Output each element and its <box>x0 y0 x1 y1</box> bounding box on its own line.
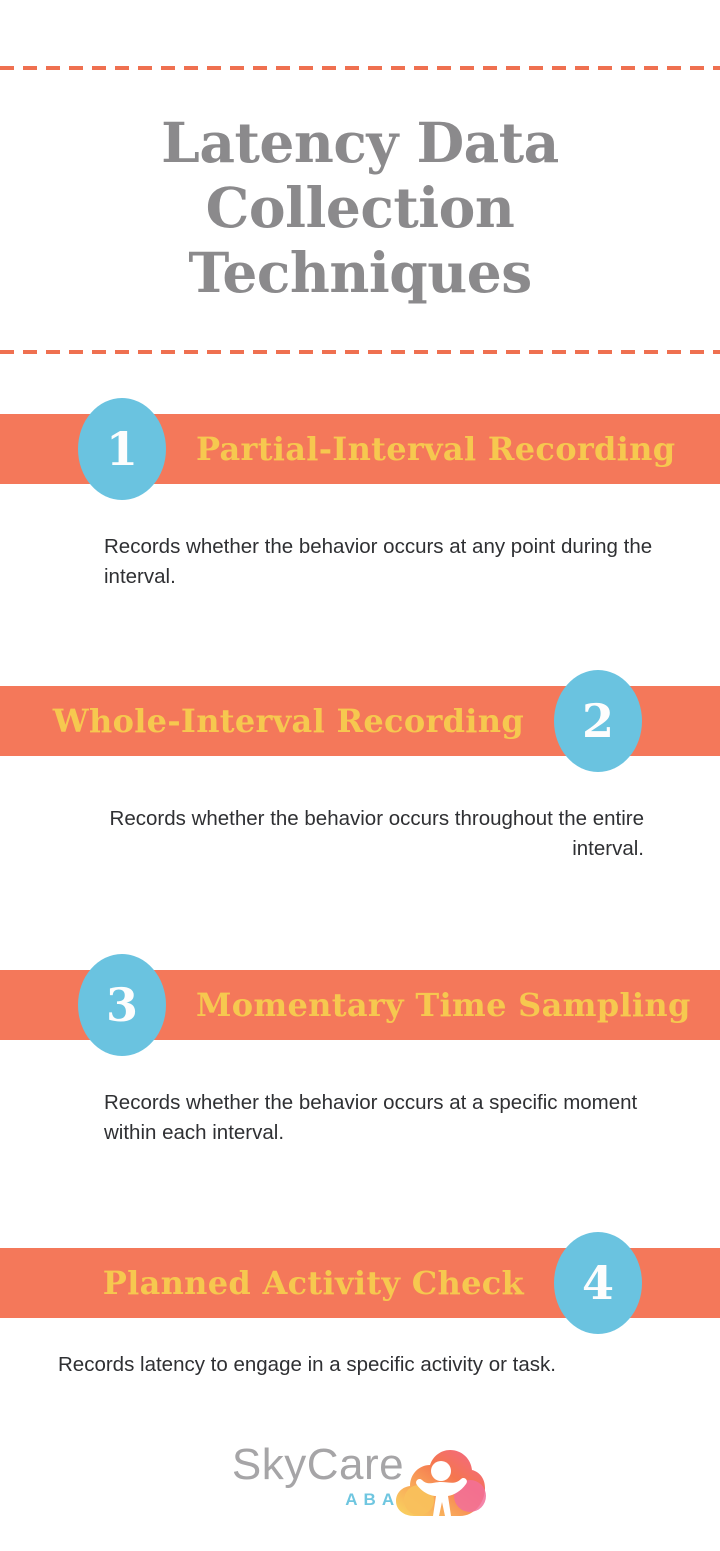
section-2: 2 Whole-Interval Recording Records wheth… <box>0 686 720 864</box>
dashed-divider-bottom <box>0 350 720 354</box>
page-title-line-3: Techniques <box>40 240 680 305</box>
section-2-number-badge: 2 <box>554 670 642 772</box>
section-1-number-badge: 1 <box>78 398 166 500</box>
section-4-title: Planned Activity Check <box>103 1248 524 1318</box>
infographic-page: Latency Data Collection Techniques 1 Par… <box>0 0 720 1551</box>
section-1-description: Records whether the behavior occurs at a… <box>0 484 720 592</box>
brand-wordmark: SkyCare ABA <box>232 1436 404 1510</box>
section-1-title: Partial-Interval Recording <box>196 414 675 484</box>
section-1: 1 Partial-Interval Recording Records whe… <box>0 414 720 592</box>
footer: SkyCare ABA <box>0 1424 720 1534</box>
dashed-divider-top <box>0 66 720 70</box>
section-1-band: 1 Partial-Interval Recording <box>0 414 720 484</box>
section-4-number-badge: 4 <box>554 1232 642 1334</box>
header: Latency Data Collection Techniques <box>0 0 720 360</box>
section-3-title: Momentary Time Sampling <box>196 970 691 1040</box>
section-3-band: 3 Momentary Time Sampling <box>0 970 720 1040</box>
section-2-description: Records whether the behavior occurs thro… <box>0 756 720 864</box>
section-3-description: Records whether the behavior occurs at a… <box>0 1040 720 1148</box>
brand-subtitle: ABA <box>232 1490 404 1510</box>
page-title-line-2: Collection <box>40 175 680 240</box>
section-3-number-badge: 3 <box>78 954 166 1056</box>
section-4: 4 Planned Activity Check Records latency… <box>0 1248 720 1380</box>
cloud-child-icon <box>392 1444 488 1522</box>
section-4-band: 4 Planned Activity Check <box>0 1248 720 1318</box>
brand-logo: SkyCare ABA <box>232 1436 488 1522</box>
page-title-line-1: Latency Data <box>40 110 680 175</box>
section-2-title: Whole-Interval Recording <box>53 686 524 756</box>
section-2-band: 2 Whole-Interval Recording <box>0 686 720 756</box>
page-title: Latency Data Collection Techniques <box>40 110 680 305</box>
section-3: 3 Momentary Time Sampling Records whethe… <box>0 970 720 1148</box>
brand-name: SkyCare <box>232 1442 404 1488</box>
